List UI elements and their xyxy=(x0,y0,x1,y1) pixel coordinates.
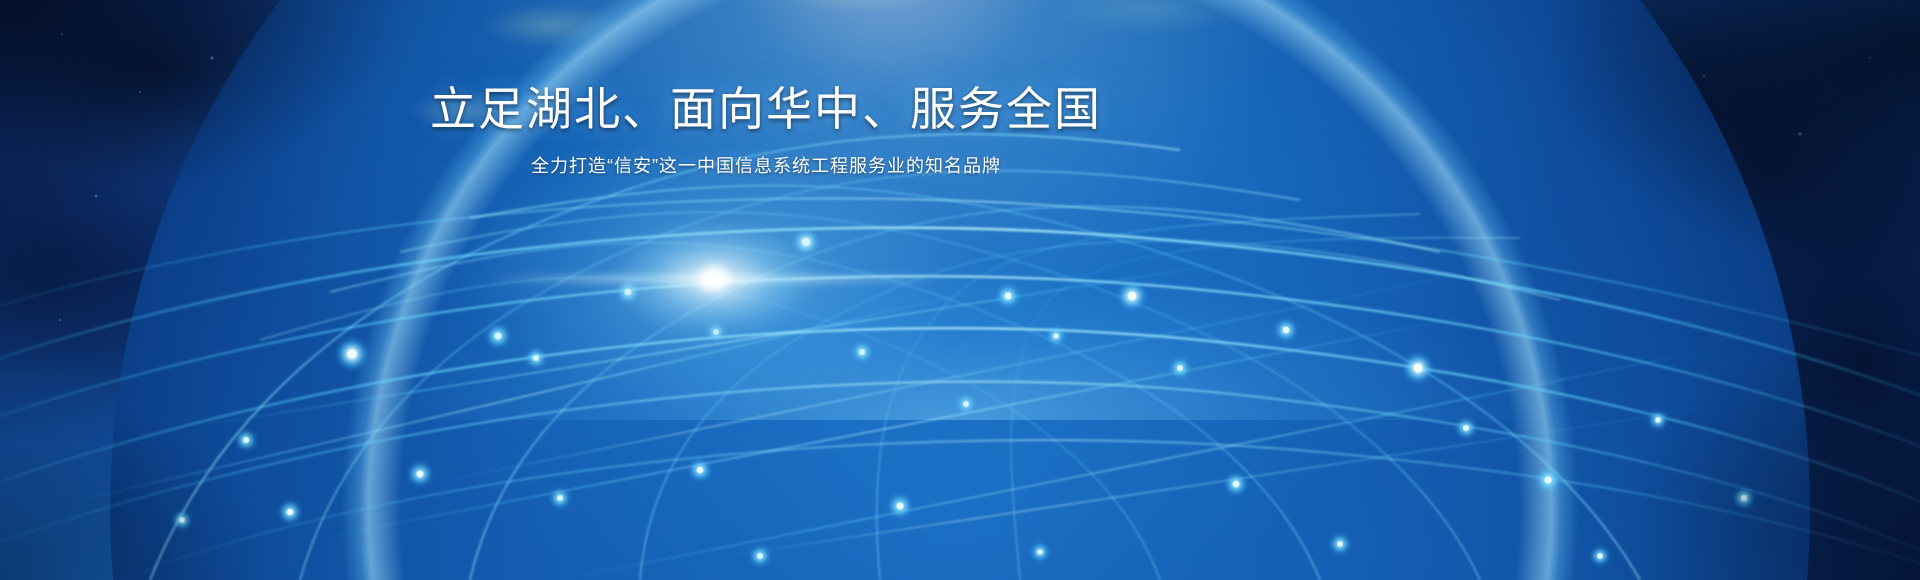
banner-headline: 立足湖北、面向华中、服务全国 xyxy=(0,84,1532,136)
light-burst-core xyxy=(699,267,729,291)
banner-subheadline: 全力打造“信安”这一中国信息系统工程服务业的知名品牌 xyxy=(0,154,1532,179)
banner-copy: 立足湖北、面向华中、服务全国 全力打造“信安”这一中国信息系统工程服务业的知名品… xyxy=(0,84,1532,179)
hero-banner: 立足湖北、面向华中、服务全国 全力打造“信安”这一中国信息系统工程服务业的知名品… xyxy=(0,0,1920,580)
